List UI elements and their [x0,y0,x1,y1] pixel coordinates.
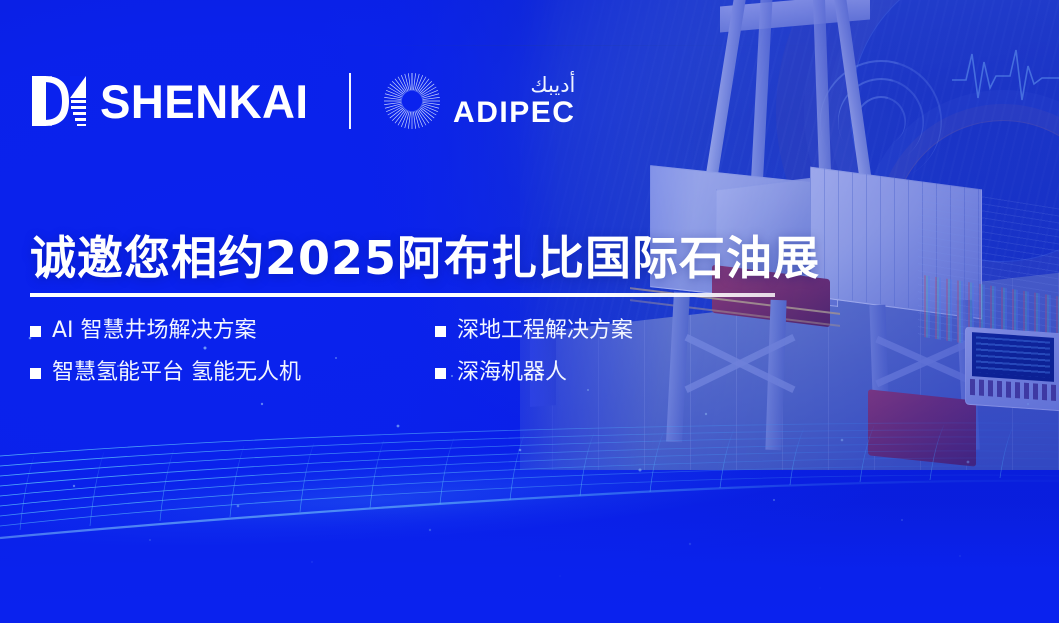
banner-content: SHENKAI [0,0,1059,623]
title-divider [30,293,775,297]
list-item-label: AI 智慧井场解决方案 [52,314,257,348]
adipec-logo: أديبك ADIPEC [381,70,575,132]
bullet-square-icon [435,368,446,379]
feature-column-left: 智慧氢能平台 氢能无人机 [30,356,435,390]
page-title: 诚邀您相约2025阿布扎比国际石油展 [30,222,820,288]
logo-lockup: SHENKAI [30,66,575,136]
feature-row: AI 智慧井场解决方案 深地工程解决方案 [30,314,790,348]
adipec-latin-text: ADIPEC [453,98,575,128]
adipec-wordmark: أديبك ADIPEC [453,75,575,128]
bullet-square-icon [30,326,41,337]
bullet-square-icon [435,326,446,337]
list-item-label: 智慧氢能平台 氢能无人机 [52,356,301,390]
feature-row: 智慧氢能平台 氢能无人机 深海机器人 [30,356,790,390]
list-item-label: 深地工程解决方案 [457,314,633,348]
list-item-label: 深海机器人 [457,356,567,390]
shenkai-wordmark: SHENKAI [100,78,309,125]
logo-separator [349,73,351,129]
feature-column-right: 深地工程解决方案 [435,314,775,348]
feature-list: AI 智慧井场解决方案 深地工程解决方案 智慧氢能平台 氢能无人机 [30,314,790,398]
list-item: 深海机器人 [435,356,775,390]
bullet-square-icon [30,368,41,379]
promo-banner: SHENKAI [0,0,1059,623]
list-item: AI 智慧井场解决方案 [30,314,435,348]
feature-column-left: AI 智慧井场解决方案 [30,314,435,348]
list-item: 深地工程解决方案 [435,314,775,348]
adipec-burst-mark [381,70,443,132]
feature-column-right: 深海机器人 [435,356,775,390]
adipec-arabic-text: أديبك [453,75,575,96]
shenkai-logo-mark [30,74,88,128]
list-item: 智慧氢能平台 氢能无人机 [30,356,435,390]
